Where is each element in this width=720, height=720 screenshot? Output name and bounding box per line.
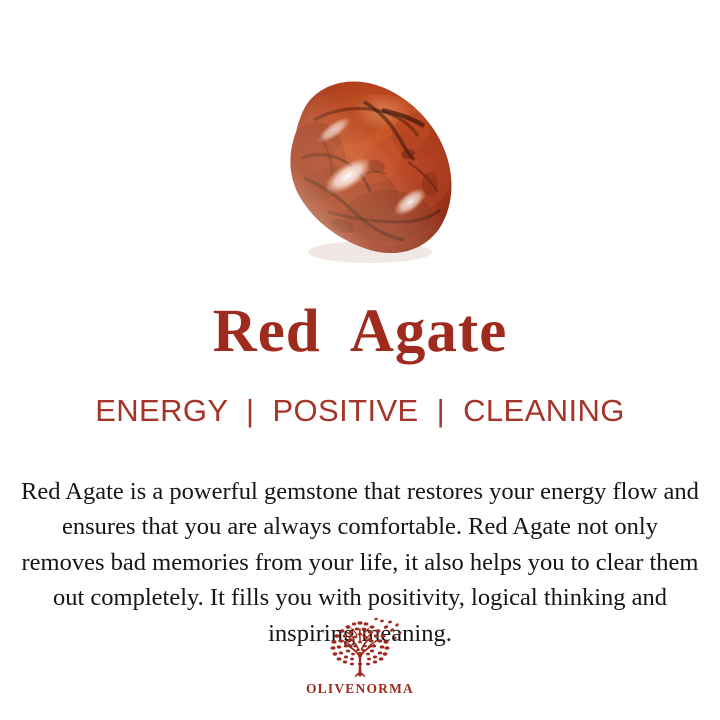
- keyword-separator: |: [237, 394, 263, 428]
- product-info-card: Red Agate ENERGY | POSITIVE | CLEANING R…: [0, 0, 720, 720]
- red-agate-stone-graphic: [258, 66, 462, 266]
- red-agate-stone-image: [258, 66, 462, 266]
- brand-logo: OLIVENORMA: [0, 616, 720, 697]
- brand-name: OLIVENORMA: [306, 681, 414, 697]
- keyword-cleaning: CLEANING: [463, 393, 625, 428]
- page-title: Red Agate: [0, 298, 720, 366]
- keyword-separator: |: [428, 394, 454, 428]
- keyword-positive: POSITIVE: [272, 393, 418, 428]
- keyword-strip: ENERGY | POSITIVE | CLEANING: [0, 394, 720, 428]
- tree-logo-icon: [314, 616, 406, 678]
- keyword-energy: ENERGY: [95, 393, 228, 428]
- hero-image-area: [0, 40, 720, 285]
